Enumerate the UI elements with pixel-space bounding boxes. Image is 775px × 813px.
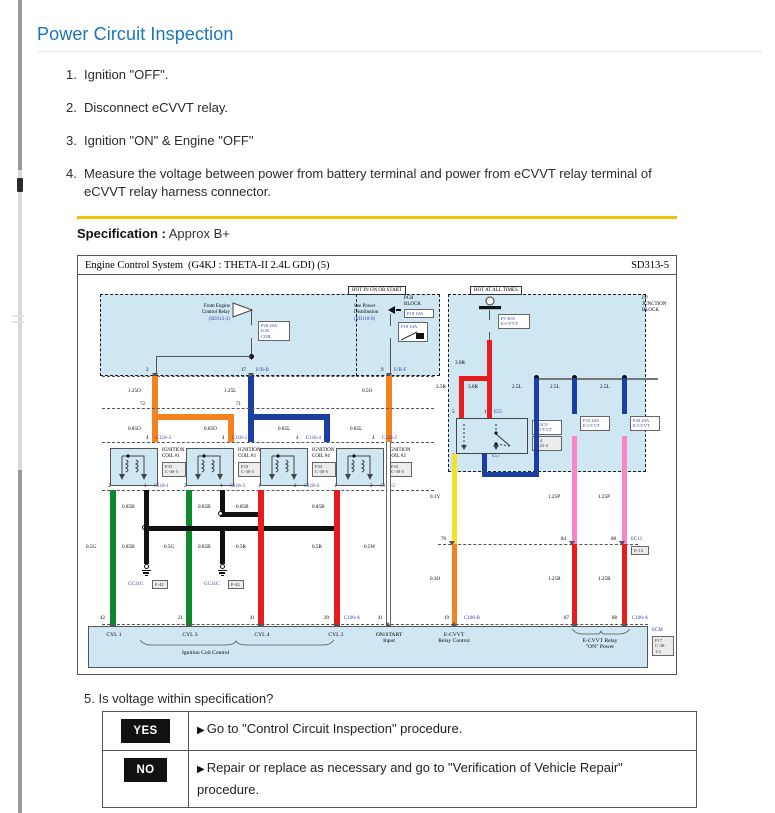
coil-2-bot-pin-a: 1 <box>334 484 337 489</box>
inline-ref-ec11: EC11 <box>631 537 642 542</box>
feed-arrow-icon <box>388 306 402 314</box>
answer-text-yes: Go to "Control Circuit Inspection" proce… <box>207 721 463 736</box>
wire-label-0-85l-1: 0.85L <box>278 426 290 432</box>
coil-symbol-icon <box>264 452 304 482</box>
fuse-box-f33-ecvvt: F33 20AE-CVVT <box>580 416 610 431</box>
wire-label-1-25l: 1.25L <box>224 388 236 394</box>
inline-pin-2: 2 <box>146 368 149 373</box>
wire-label-2-5l-1: 2.5L <box>512 384 522 390</box>
coil-4-ref: F33 C-30-5 <box>312 462 336 477</box>
diagram-canvas: HOT IN ON OR START HOT AT ALL TIMES PCB … <box>78 276 676 674</box>
table-row: NO ▶Repair or replace as necessary and g… <box>103 751 697 808</box>
ecm-module-ref: F17 C-30-1/2 <box>652 636 674 656</box>
wire-segment <box>156 356 251 357</box>
ecm-label-cyl2: CYL 2 <box>314 632 358 638</box>
coil-2-bot-pin-b: 2 <box>370 484 373 489</box>
coil-3-bot-conn: C118-3 <box>230 484 245 489</box>
wire-segment <box>251 309 252 325</box>
scroll-track-light <box>18 170 22 470</box>
coil-symbol-icon <box>190 452 230 482</box>
wire-black-jumper <box>220 512 263 517</box>
wire-red-right-leg <box>487 376 492 418</box>
coil-bottom-connector-row <box>102 490 434 491</box>
ecm-pin-num-41b: 41 <box>378 616 383 621</box>
coil-symbol-icon <box>340 452 380 482</box>
inline-pin-9: 9 <box>381 368 384 373</box>
coil-3-bot-pin-b: 1 <box>220 484 223 489</box>
coil-3-top-pin: 4 <box>222 436 225 441</box>
ecm-label-cyl3: CYL 3 <box>168 632 212 638</box>
specification-value: Approx B+ <box>169 226 230 241</box>
wire-segment <box>390 338 391 374</box>
document-page: Power Circuit Inspection 1. Ignition "OF… <box>24 0 775 813</box>
step-number: 1. <box>66 66 77 84</box>
specification-rule <box>77 216 677 219</box>
wire-label-2-5r: 2.5R <box>436 384 446 390</box>
fuse-box-f18: F18 10A <box>404 309 434 318</box>
fuse-box-f20-ign-coil: F20 20AIGN COIL <box>258 321 290 341</box>
wire-red-cyl4 <box>258 490 264 638</box>
wiring-diagram: Engine Control System (G4KJ : THETA-II 2… <box>77 255 677 675</box>
hot-tag-all-times: HOT AT ALL TIMES <box>470 286 522 295</box>
wire-label-0-5w: 0.5W <box>364 544 375 550</box>
ecm-conn-c100-b: C100-B <box>464 616 480 621</box>
coil-1-top-pin: 4 <box>146 436 149 441</box>
coil-1-ref: F33 C-30-5 <box>162 462 186 477</box>
wire-label-2-5l-3: 2.5L <box>600 384 610 390</box>
ecm-pair-brace-icon <box>570 628 632 636</box>
ecm-pin-num-42: 42 <box>100 616 105 621</box>
wire-green-cyl3 <box>186 490 192 638</box>
wire-label-0-85b-2: 0.85B <box>198 504 211 510</box>
wire-black-ground-bus <box>144 526 339 531</box>
wire-label-0-5g-2: 0.5G <box>164 544 174 550</box>
ecm-connector-row <box>102 624 648 625</box>
wire-label-1-25r-1: 1.25R <box>548 576 561 582</box>
ground-box-1: F-42 <box>152 580 168 589</box>
ecm-label-cyl1: CYL 1 <box>92 632 136 638</box>
fuse-id: F18 10A <box>401 324 417 329</box>
wire-pink-2 <box>622 436 627 544</box>
wire-label-0-85o-2: 0.85O <box>204 426 217 432</box>
fuse-id: F33 20A <box>583 418 599 423</box>
procedure-steps: 1. Ignition "OFF". 2. Disconnect eCVVT r… <box>24 66 775 201</box>
coil-2-top-pin: 4 <box>372 436 375 441</box>
wire-label-0-85b-6: 0.85B <box>198 544 211 550</box>
answer-value-yes-cell: ▶Go to "Control Circuit Inspection" proc… <box>189 712 697 751</box>
coil-1-top-conn: C118-3 <box>156 436 171 441</box>
diagram-sheet-number: SD313-5 <box>631 260 669 271</box>
wire-blue-leg2 <box>324 414 330 442</box>
wire-segment <box>489 310 490 320</box>
inline-pin-72: 72 <box>140 402 145 407</box>
answer-text-no: Repair or replace as necessary and go to… <box>197 760 623 797</box>
step-number: 3. <box>66 132 77 150</box>
wire-label-1-25p-2: 1.25P <box>598 494 610 500</box>
relay-pin-5: 5 <box>452 410 455 415</box>
fuse-name: E-CVVT <box>583 423 600 428</box>
fuse-id: F40 20A <box>633 418 649 423</box>
coil-4-bot-pin-a: 1 <box>258 484 261 489</box>
coil-1-bot-pin-a: 2 <box>108 484 111 489</box>
answer-key-yes-cell: YES <box>103 712 189 751</box>
inline-connector-row-mid <box>438 544 638 545</box>
wire-label-0-85b-5: 0.85B <box>122 544 135 550</box>
ecm-pin-num-20: 20 <box>324 616 329 621</box>
source-label-engine-control-relay: From Engine Control Relay <box>178 304 230 316</box>
wire-label-3-0r: 3.0R <box>455 360 465 366</box>
hot-tag-on-or-start: HOT IN ON OR START <box>348 286 406 295</box>
inline-pin-76: 76 <box>441 537 446 542</box>
ecm-module-name: ECM <box>652 628 663 634</box>
specification-line: Specification : Approx B+ <box>77 226 677 241</box>
wire-label-2-5l-2: 2.5L <box>550 384 560 390</box>
inline-pin-17: 17 <box>241 368 246 373</box>
coil-2-top-conn: C118-2 <box>382 436 397 441</box>
block-label-pcb: PCB BLOCK <box>404 296 421 308</box>
coil-top-connector-row <box>102 442 434 443</box>
coil-4-bot-pin-b: 2 <box>294 484 297 489</box>
scroll-thumb[interactable] <box>17 178 23 192</box>
wire-label-0-5r-2: 0.5R <box>312 544 322 550</box>
ecm-label-cyl4: CYL 4 <box>240 632 284 638</box>
coil-4-top-pin: 4 <box>296 436 299 441</box>
coil-4-top-conn: C118-4 <box>306 436 321 441</box>
fuse-name: E-CVVT <box>633 423 650 428</box>
coil-1-label: IGNITION COIL #1 <box>162 448 185 460</box>
specification-block: Specification : Approx B+ <box>77 216 677 241</box>
coil-symbol-icon <box>114 452 154 482</box>
wire-black-gnd-drop-2 <box>220 526 225 564</box>
wire-black-gnd-drop-1 <box>144 526 149 564</box>
wire-label-0-85o-1: 0.85O <box>128 426 141 432</box>
wire-label-1-25o: 1.25O <box>128 388 141 394</box>
wire-orange-mid <box>386 376 392 442</box>
step-text: Measure the voltage between power from b… <box>84 166 652 199</box>
wire-blue-2 <box>572 378 577 414</box>
wire-green-cyl1 <box>110 490 116 638</box>
ecm-label-onstart: ON/START Input <box>366 632 412 645</box>
coil-2-ref: F33 C-30-5 <box>388 462 412 477</box>
wire-label-3-0r-2: 3.0R <box>468 384 478 390</box>
coil-4-bot-conn: C118-4 <box>304 484 319 489</box>
diagram-system-name: Engine Control System <box>85 260 183 271</box>
step-number: 2. <box>66 99 77 117</box>
ecm-pin-num-88: 88 <box>612 616 617 621</box>
ecm-pin-num-21: 21 <box>178 616 183 621</box>
bullet-triangle-icon: ▶ <box>197 764 205 775</box>
ecm-pin-num-87: 87 <box>564 616 569 621</box>
fuse-box-f5-ecvvt: F5 30AE-CVVT <box>498 314 530 329</box>
relay-contacts-icon <box>458 420 526 452</box>
wire-label-0-5g-1: 0.5G <box>86 544 96 550</box>
step-item: 4. Measure the voltage between power fro… <box>66 165 666 201</box>
step-number: 4. <box>66 165 77 183</box>
relay-conn-e55: E55 <box>494 410 502 415</box>
wire-label-0-85b-3: 0.85B <box>236 504 249 510</box>
bullet-triangle-icon: ▶ <box>197 725 205 736</box>
left-scroll-rail[interactable] <box>0 0 24 813</box>
coil-4-label: IGNITION COIL #4 <box>312 448 335 460</box>
wire-orange-run <box>152 414 234 420</box>
wire-label-0-85b-1: 0.85B <box>122 504 135 510</box>
ground-label-1: GC31C <box>128 582 143 587</box>
wire-blue-bus <box>536 378 658 380</box>
ecm-pin-num-19: 19 <box>444 616 449 621</box>
ecm-label-relay-on-power: E-CVVT Relay "ON" Power <box>570 638 630 651</box>
wire-red-left-leg <box>459 376 464 418</box>
coil-3-ref: F33 C-30-5 <box>238 462 262 477</box>
ecm-group-label: Ignition Coil Control <box>182 650 229 656</box>
wire-blue-3 <box>622 378 627 414</box>
fuse-box-f40-ecvvt: F40 20AE-CVVT <box>630 416 660 431</box>
answer-key-no-cell: NO <box>103 751 189 808</box>
wire-black-1 <box>144 490 149 528</box>
relay-pin-1: 1 <box>484 410 487 415</box>
step-item: 1. Ignition "OFF". <box>66 66 666 84</box>
ecm-pin-num-41: 41 <box>250 616 255 621</box>
answer-value-no-cell: ▶Repair or replace as necessary and go t… <box>189 751 697 808</box>
fuse-id: F20 20A <box>261 323 277 328</box>
source-ref-power-distribution: (SD110-9) <box>354 317 375 323</box>
title-divider <box>37 51 762 52</box>
wire-label-1-25r-2: 1.25R <box>598 576 611 582</box>
ground-symbol-1 <box>141 564 151 576</box>
no-badge: NO <box>124 758 166 782</box>
wire-segment <box>489 332 490 340</box>
coil-2-label: IGNITION COIL #2 <box>388 448 411 460</box>
switch-symbol-icon <box>400 330 426 342</box>
inline-pin-84: 84 <box>561 537 566 542</box>
ecm-group-brace-icon <box>138 639 338 647</box>
wire-label-0-85l-3: 0.85L <box>350 426 362 432</box>
yes-badge: YES <box>121 719 169 743</box>
wire-yellow <box>452 454 457 544</box>
wire-white-onstart <box>386 442 391 638</box>
wire-label-0-5o: 0.5O <box>362 388 372 394</box>
wire-segment <box>156 356 157 374</box>
wire-blue-relay-run <box>482 472 538 477</box>
step-item: 2. Disconnect eCVVT relay. <box>66 99 666 117</box>
step-text: Ignition "OFF". <box>84 67 168 82</box>
ecm-label-relay-control: E-CVVT Relay Control <box>428 632 480 645</box>
inline-pin-71: 71 <box>236 402 241 407</box>
coil-3-label: IGNITION COIL #3 <box>238 448 261 460</box>
inline-pin-88: 88 <box>611 537 616 542</box>
answer-table: YES ▶Go to "Control Circuit Inspection" … <box>102 711 697 808</box>
wire-label-0-5r-1: 0.5R <box>236 544 246 550</box>
wire-red-cyl2 <box>334 490 340 638</box>
ground-label-2: GC31C <box>204 582 219 587</box>
step-text: Ignition "ON" & Engine "OFF" <box>84 133 253 148</box>
block-label-ip-junction: I/P JUNCTION BLOCK <box>642 296 666 314</box>
ecm-conn-c100-a-2: C100-A <box>632 616 648 621</box>
ground-box-2: F-42 <box>228 580 244 589</box>
wire-label-0-85b-4: 0.85B <box>312 504 325 510</box>
step-text: Disconnect eCVVT relay. <box>84 100 228 115</box>
inline-ref-box-e14: E-14 <box>631 546 649 555</box>
wire-blue-leg1 <box>248 414 254 442</box>
wire-pink-1 <box>572 436 577 544</box>
fuse-id: F5 30A <box>501 316 515 321</box>
inline-ref-eb-b: E/B-B <box>256 368 269 373</box>
ground-symbol-2 <box>217 564 227 576</box>
coil-1-bot-pin-b: 1 <box>144 484 147 489</box>
coil-3-top-conn: C118-3 <box>232 436 247 441</box>
fuse-name: IGN COIL <box>261 328 272 338</box>
specification-label: Specification : <box>77 226 166 241</box>
inline-connector-row-72-71 <box>102 408 434 409</box>
table-row: YES ▶Go to "Control Circuit Inspection" … <box>103 712 697 751</box>
diagram-engine-name: (G4KJ : THETA-II 2.4L GDI) (5) <box>188 260 329 271</box>
wire-label-1-25p-1: 1.25P <box>548 494 560 500</box>
diagram-header: Engine Control System (G4KJ : THETA-II 2… <box>78 256 676 275</box>
splice-node <box>218 511 223 516</box>
ecm-conn-c100-a-1: C100-A <box>344 616 360 621</box>
coil-1-bot-conn: C118-1 <box>154 484 169 489</box>
relay-conn-e57: E57 <box>492 454 500 459</box>
step-item: 3. Ignition "ON" & Engine "OFF" <box>66 132 666 150</box>
wire-label-0-3o: 0.3O <box>430 576 440 582</box>
page-title: Power Circuit Inspection <box>37 24 775 45</box>
coil-3-bot-pin-a: 2 <box>184 484 187 489</box>
source-ref-engine-control-relay: (SD313-3) <box>178 317 230 323</box>
inline-ref-eb-f: E/B-F <box>394 368 406 373</box>
fuse-name: E-CVVT <box>501 321 518 326</box>
question-step-5: 5. Is voltage within specification? <box>84 691 775 706</box>
wire-segment <box>390 314 391 326</box>
wire-blue-down <box>534 378 539 477</box>
wire-label-0-3y: 0.3Y <box>430 494 440 500</box>
wire-blue-run <box>248 414 330 420</box>
